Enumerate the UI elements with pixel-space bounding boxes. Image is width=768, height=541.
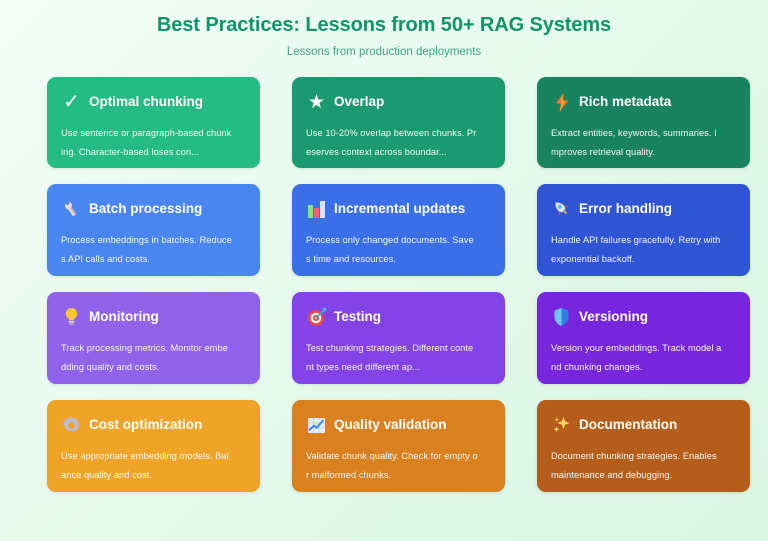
- card-header: ✓ Optimal chunking: [61, 91, 247, 113]
- card-title: Error handling: [579, 200, 672, 218]
- card-error-handling[interactable]: Error handling Handle API failures grace…: [537, 184, 750, 276]
- shield-icon: [551, 307, 572, 328]
- card-title: Overlap: [334, 93, 384, 111]
- card-header: Error handling: [551, 198, 737, 220]
- card-header: Versioning: [551, 306, 737, 328]
- card-header: Batch processing: [61, 198, 247, 220]
- card-quality-validation[interactable]: Quality validation Validate chunk qualit…: [292, 400, 505, 492]
- light-bulb-icon: [61, 307, 82, 328]
- card-header: Rich metadata: [551, 91, 737, 113]
- card-rich-metadata[interactable]: Rich metadata Extract entities, keywords…: [537, 77, 750, 168]
- high-voltage-icon: [551, 92, 572, 113]
- best-practices-grid: ✓ Optimal chunking Use sentence or parag…: [47, 77, 753, 492]
- card-title: Batch processing: [89, 200, 202, 218]
- star-icon: ★: [306, 92, 327, 113]
- card-description: Process embeddings in batches. Reduces A…: [61, 231, 233, 269]
- wrench-icon: [61, 199, 82, 220]
- card-header: Monitoring: [61, 306, 247, 328]
- chart-increasing-icon: [306, 415, 327, 436]
- card-title: Quality validation: [334, 416, 447, 434]
- card-header: Quality validation: [306, 414, 492, 436]
- card-title: Cost optimization: [89, 416, 202, 434]
- card-description: Track processing metrics. Monitor embedd…: [61, 339, 233, 377]
- card-title: Versioning: [579, 308, 648, 326]
- card-description: Use sentence or paragraph-based chunking…: [61, 124, 233, 162]
- card-title: Rich metadata: [579, 93, 671, 111]
- card-batch-processing[interactable]: Batch processing Process embeddings in b…: [47, 184, 260, 276]
- card-monitoring[interactable]: Monitoring Track processing metrics. Mon…: [47, 292, 260, 384]
- card-description: Test chunking strategies. Different cont…: [306, 339, 478, 377]
- card-description: Use 10-20% overlap between chunks. Prese…: [306, 124, 478, 162]
- card-title: Optimal chunking: [89, 93, 203, 111]
- page-header: Best Practices: Lessons from 50+ RAG Sys…: [0, 0, 768, 59]
- card-incremental-updates[interactable]: Incremental updates Process only changed…: [292, 184, 505, 276]
- card-title: Incremental updates: [334, 200, 465, 218]
- card-description: Handle API failures gracefully. Retry wi…: [551, 231, 723, 269]
- card-description: Document chunking strategies. Enables ma…: [551, 447, 723, 485]
- card-header: Incremental updates: [306, 198, 492, 220]
- card-description: Extract entities, keywords, summaries. I…: [551, 124, 723, 162]
- card-testing[interactable]: Testing Test chunking strategies. Differ…: [292, 292, 505, 384]
- card-title: Documentation: [579, 416, 677, 434]
- page-title: Best Practices: Lessons from 50+ RAG Sys…: [0, 12, 768, 38]
- card-description: Process only changed documents. Saves ti…: [306, 231, 478, 269]
- card-header: Documentation: [551, 414, 737, 436]
- card-title: Testing: [334, 308, 381, 326]
- page-subtitle: Lessons from production deployments: [0, 45, 768, 59]
- card-title: Monitoring: [89, 308, 159, 326]
- bar-chart-icon: [306, 199, 327, 220]
- card-description: Validate chunk quality. Check for empty …: [306, 447, 478, 485]
- dart-target-icon: [306, 307, 327, 328]
- card-overlap[interactable]: ★ Overlap Use 10-20% overlap between chu…: [292, 77, 505, 168]
- card-header: ★ Overlap: [306, 91, 492, 113]
- card-documentation[interactable]: Documentation Document chunking strategi…: [537, 400, 750, 492]
- page-root: Best Practices: Lessons from 50+ RAG Sys…: [0, 0, 768, 541]
- sparkles-icon: [551, 415, 572, 436]
- card-description: Version your embeddings. Track model and…: [551, 339, 723, 377]
- card-versioning[interactable]: Versioning Version your embeddings. Trac…: [537, 292, 750, 384]
- card-description: Use appropriate embedding models. Balanc…: [61, 447, 233, 485]
- card-header: Testing: [306, 306, 492, 328]
- rocket-icon: [551, 199, 572, 220]
- card-optimal-chunking[interactable]: ✓ Optimal chunking Use sentence or parag…: [47, 77, 260, 168]
- card-header: Cost optimization: [61, 414, 247, 436]
- card-cost-optimization[interactable]: Cost optimization Use appropriate embedd…: [47, 400, 260, 492]
- check-mark-icon: ✓: [61, 92, 82, 113]
- gear-icon: [61, 415, 82, 436]
